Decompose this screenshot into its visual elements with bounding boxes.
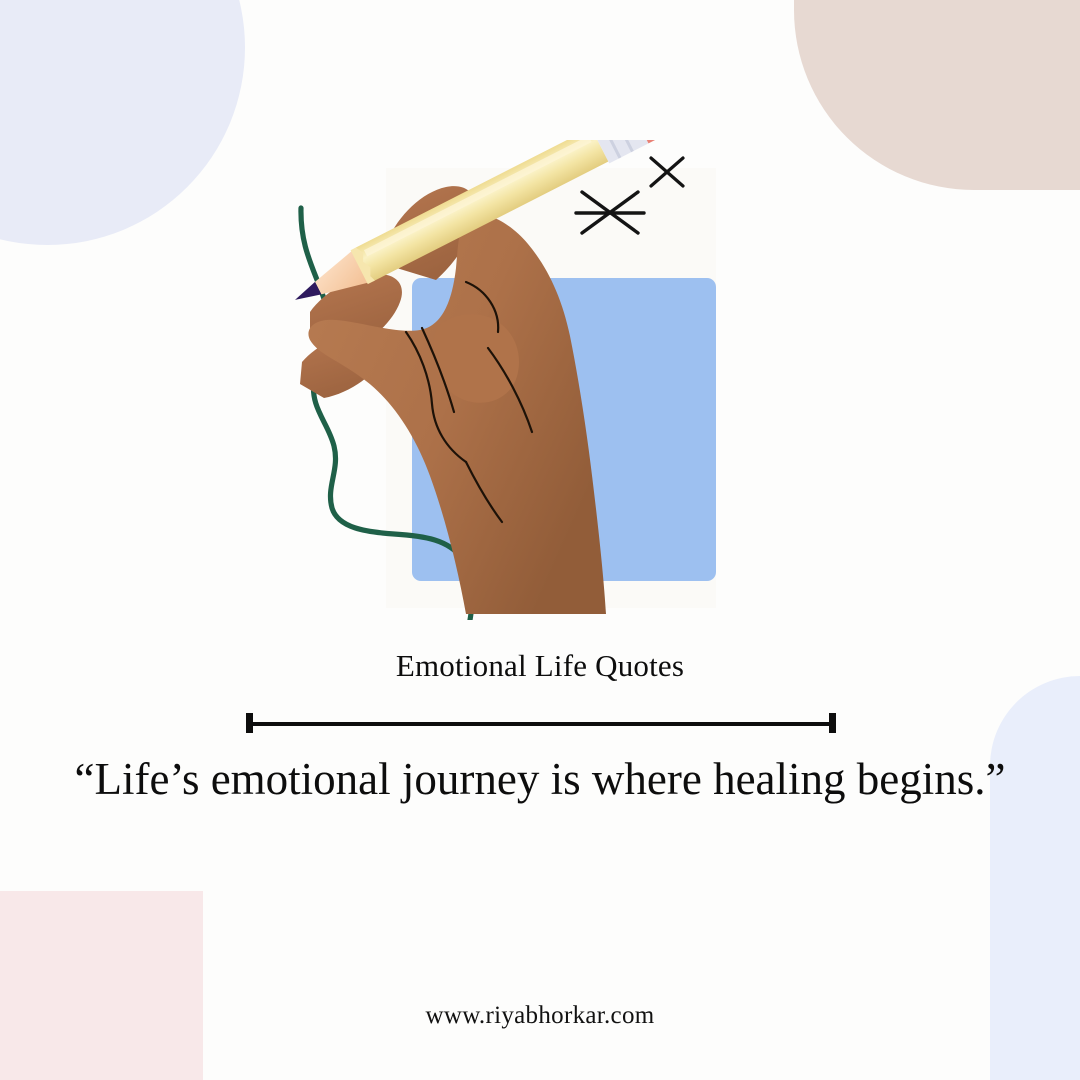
website-url: www.riyabhorkar.com: [0, 1002, 1080, 1030]
quote-text: “Life’s emotional journey is where heali…: [0, 753, 1080, 805]
top-right-blob-decoration: [794, 0, 1080, 190]
bottom-left-square-decoration: [0, 891, 203, 1080]
hand-with-pencil-illustration: [270, 140, 740, 620]
divider-bar: [246, 722, 836, 726]
poster-canvas: Emotional Life Quotes “Life’s emotional …: [0, 0, 1080, 1080]
top-left-circle-decoration: [0, 0, 245, 245]
page-title: Emotional Life Quotes: [0, 648, 1080, 684]
divider: [246, 719, 836, 727]
divider-cap-right: [829, 713, 836, 733]
